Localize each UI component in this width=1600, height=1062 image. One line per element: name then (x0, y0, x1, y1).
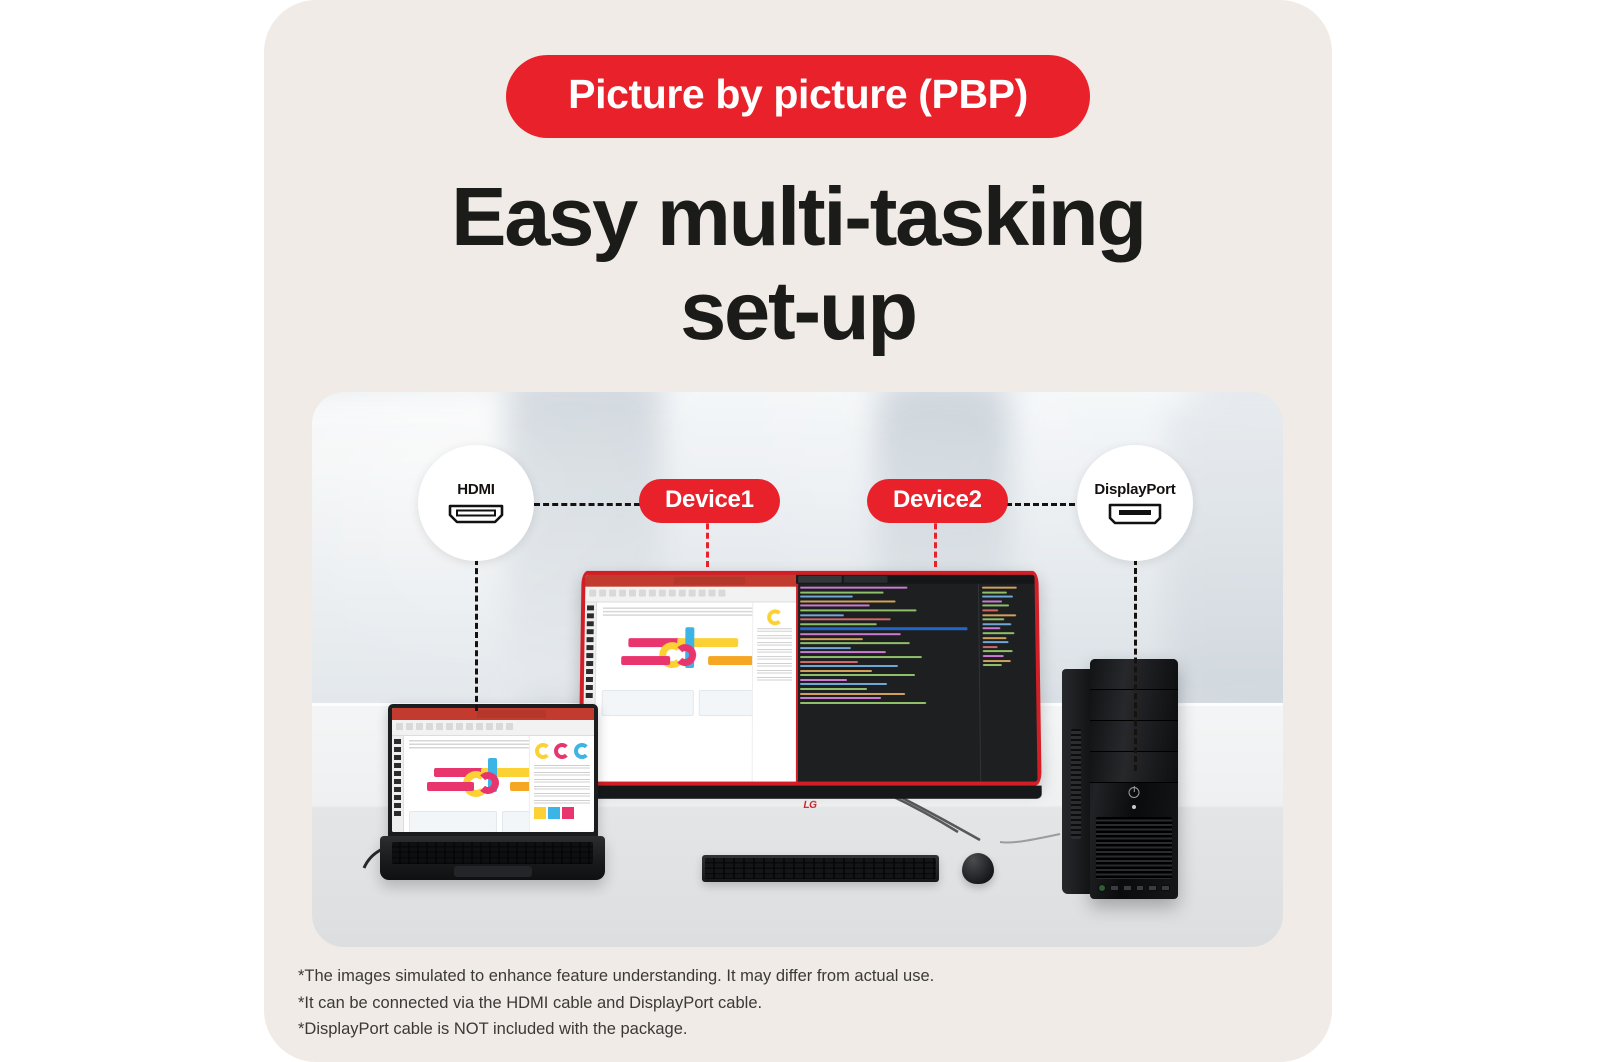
feature-badge: Picture by picture (PBP) (506, 55, 1090, 138)
feature-badge-wrapper: Picture by picture (PBP) (264, 55, 1332, 138)
displayport-port-icon (1106, 502, 1164, 526)
promo-page: Picture by picture (PBP) Easy multi-task… (0, 0, 1600, 1062)
code-lines (796, 584, 979, 782)
laptop (380, 704, 605, 879)
ultrawide-monitor: LG (580, 570, 1040, 785)
hdmi-badge: HDMI (418, 445, 534, 561)
footnote-2: *It can be connected via the HDMI cable … (298, 990, 934, 1017)
laptop-keyboard (392, 842, 593, 864)
hdmi-port-icon (447, 502, 505, 526)
monitor-pane-right-code-editor (796, 575, 1037, 782)
leader-line-hdmi-to-laptop (475, 559, 478, 711)
monitor-lower-bezel: LG (578, 786, 1042, 799)
displayport-label: DisplayPort (1094, 481, 1175, 498)
connector-line-displayport (1006, 503, 1084, 506)
power-button-icon[interactable] (1129, 787, 1140, 798)
laptop-screen (392, 708, 594, 832)
device2-pill: Device2 (867, 479, 1008, 523)
page-title-line-2: set-up (264, 264, 1332, 358)
device1-pill: Device1 (639, 479, 780, 523)
footnote-3: *DisplayPort cable is NOT included with … (298, 1016, 934, 1043)
laptop-trackpad (454, 866, 532, 877)
tower-side-panel (1062, 669, 1092, 894)
leader-line-dp-to-tower (1134, 559, 1137, 771)
tower-front-io (1098, 883, 1170, 893)
tower-vent-grille (1096, 817, 1172, 879)
footnotes: *The images simulated to enhance feature… (298, 963, 934, 1043)
desktop-mouse (962, 853, 994, 884)
monitor-bezel: LG (578, 571, 1041, 786)
monitor-pane-left-document (582, 575, 796, 782)
desktop-tower (1062, 659, 1178, 899)
hdmi-label: HDMI (457, 481, 495, 498)
lg-logo: LG (803, 800, 816, 811)
laptop-base (380, 836, 605, 880)
displayport-badge: DisplayPort (1077, 445, 1193, 561)
footnote-1: *The images simulated to enhance feature… (298, 963, 934, 990)
connector-line-hdmi (534, 503, 640, 506)
page-title-line-1: Easy multi-tasking (264, 170, 1332, 264)
desktop-keyboard (702, 855, 939, 882)
product-photo-card: LG (312, 392, 1283, 947)
laptop-lid (388, 704, 598, 839)
page-title: Easy multi-tasking set-up (264, 170, 1332, 358)
status-led (1132, 805, 1136, 809)
monitor-screen (582, 575, 1037, 782)
code-minimap (977, 584, 1037, 782)
